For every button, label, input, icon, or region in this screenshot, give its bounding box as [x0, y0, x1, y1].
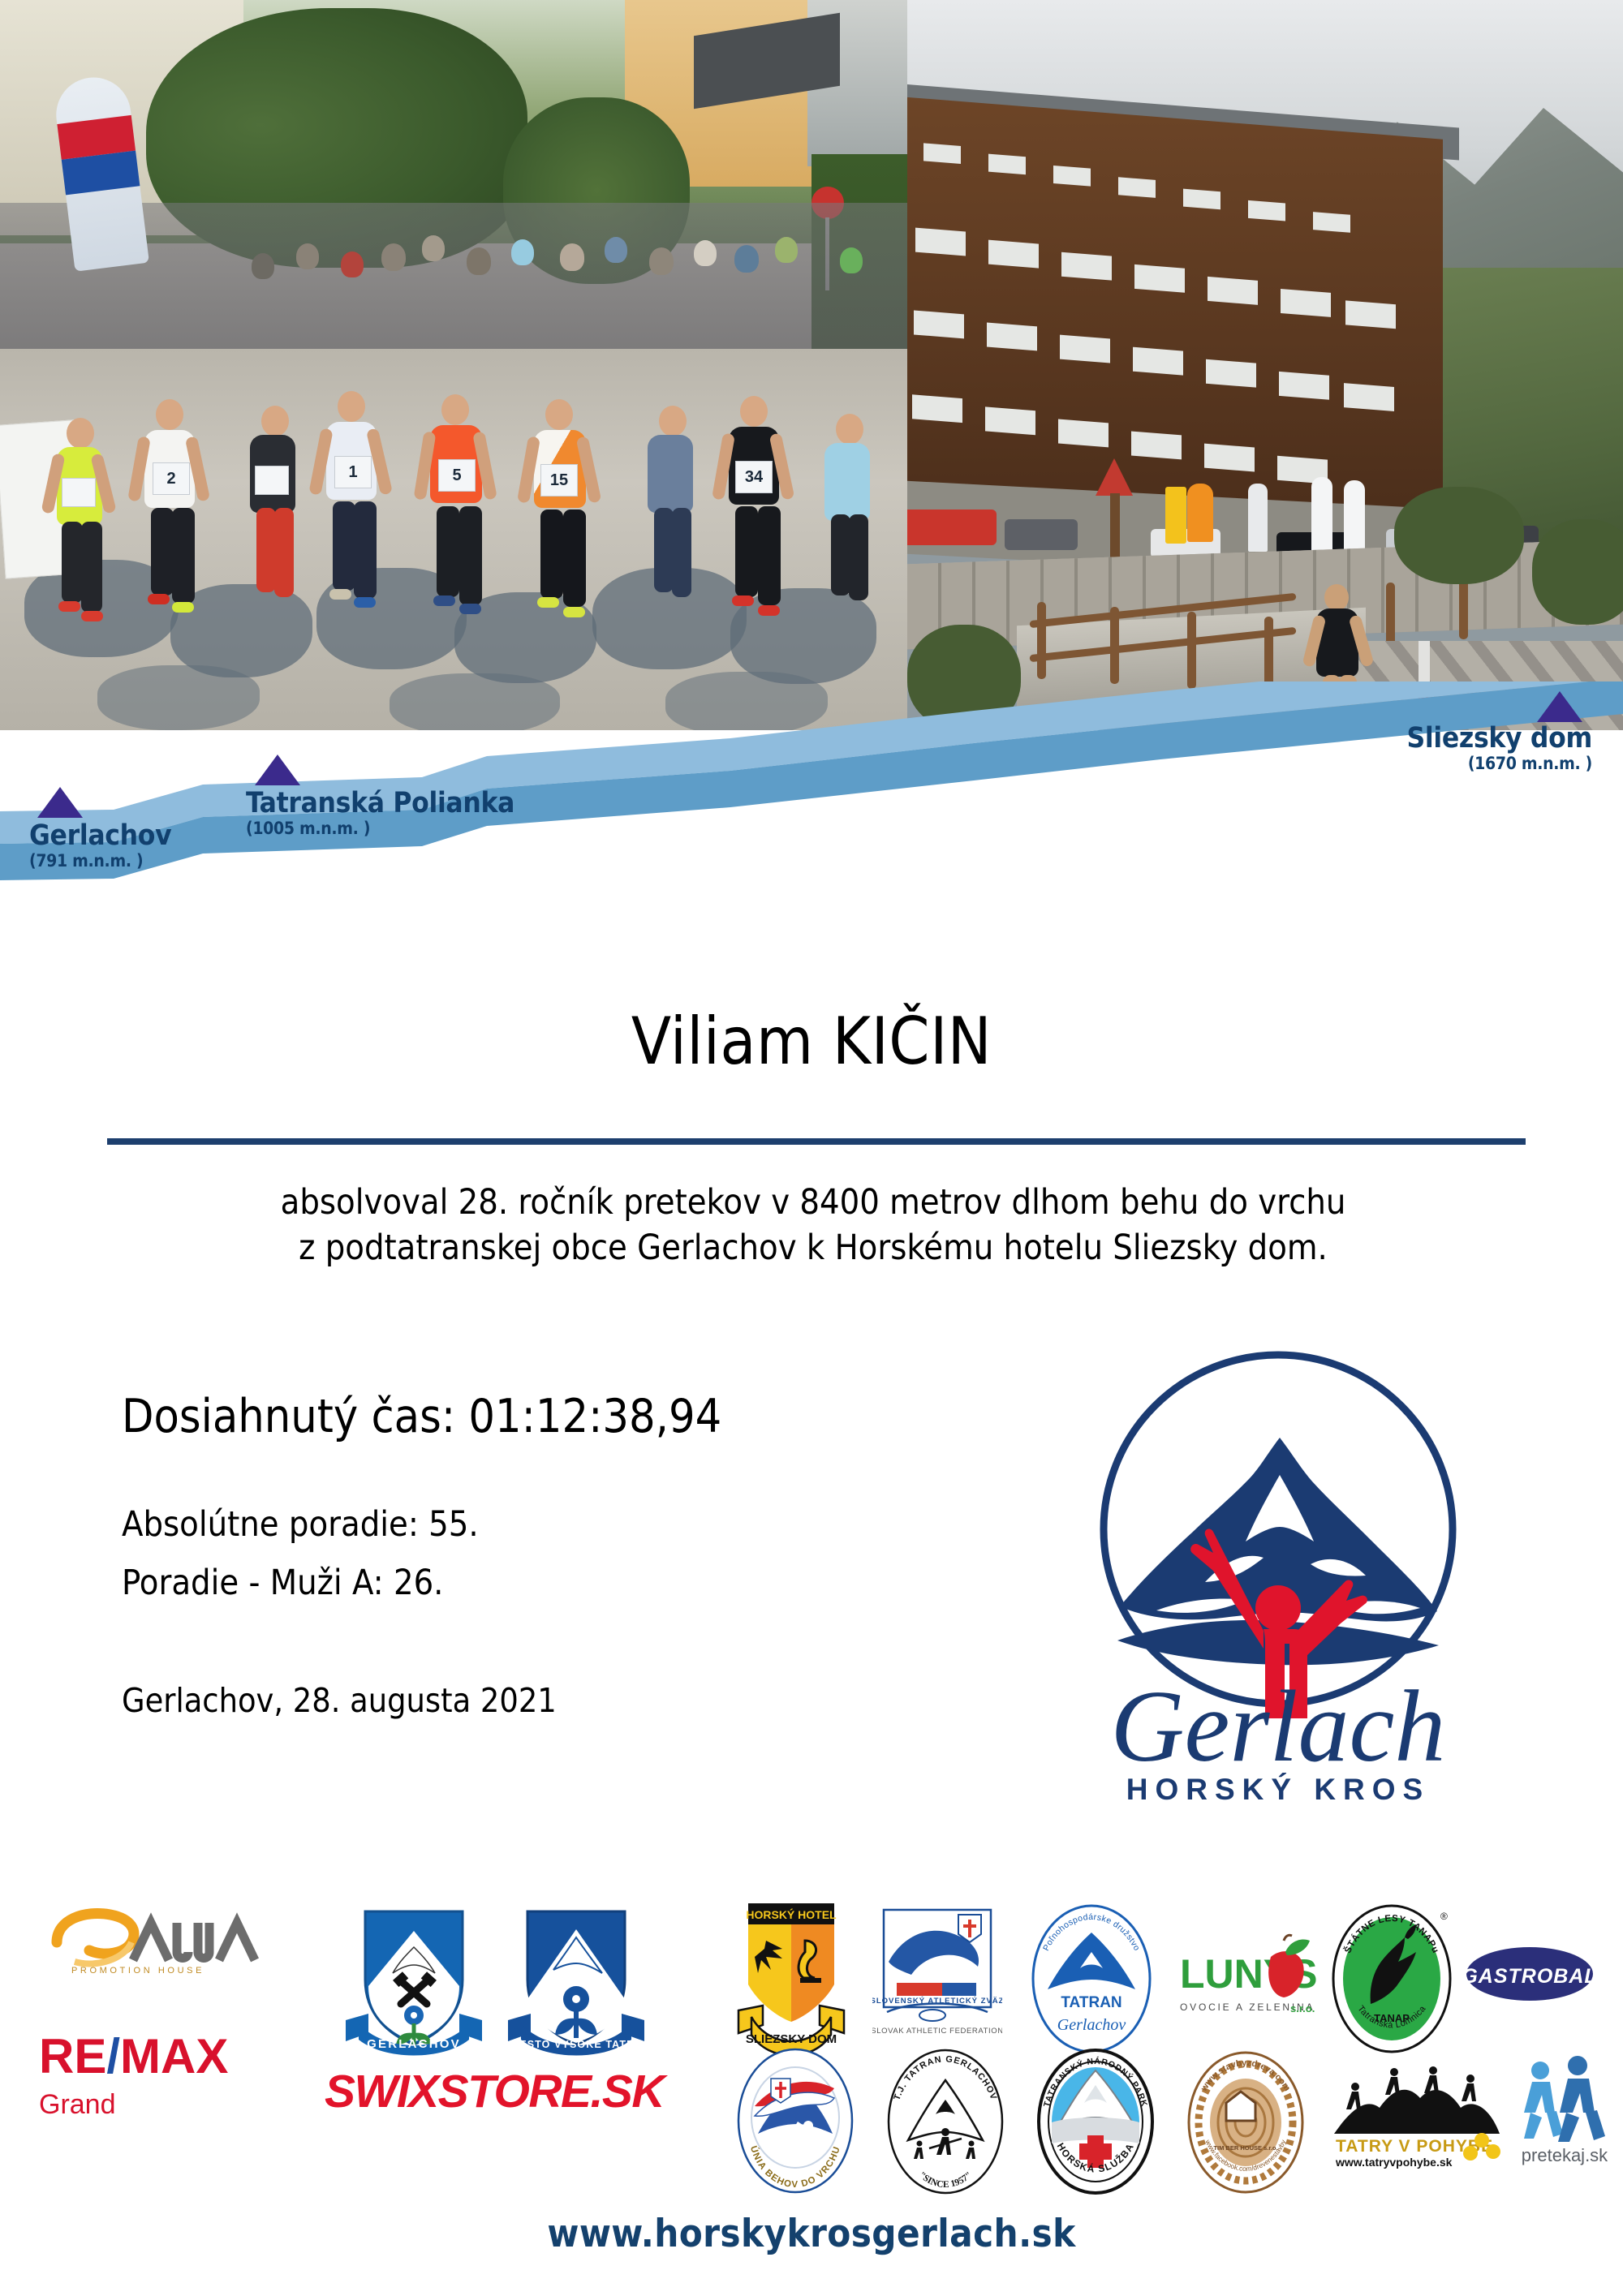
athlete-name: Viliam KIČIN	[0, 1004, 1623, 1079]
band-lower	[0, 681, 1623, 880]
marker-label-tatranska-polianka: Tatranská Polianka (1005 m.n.m. )	[246, 789, 514, 840]
sponsor-stavbyzdreva: TIM BER HOUSE s.r.o. www.stavbyzdreva.co…	[1181, 2046, 1311, 2203]
marker-name: Sliezsky dom	[1365, 724, 1592, 753]
marker-tatranska-polianka	[253, 753, 302, 787]
sponsor-horska-sluzba: TATRANSKÝ NÁRODNÝ PARK HORSKÁ SLUŽBA	[1031, 2044, 1160, 2203]
sponsor-gerlachov-coa: GERLACHOV	[341, 1902, 487, 2064]
sponsor-pretekaj-label: pretekaj.sk	[1522, 2145, 1608, 2165]
race-description-line1: absolvoval 28. ročník pretekov v 8400 me…	[107, 1180, 1519, 1226]
triangle-marker-icon	[1535, 690, 1584, 724]
marker-altitude: (791 m.n.m. )	[29, 850, 171, 871]
triangle-marker-icon	[36, 785, 84, 819]
result-block: Dosiahnutý čas: 01:12:38,94 Absolútne po…	[122, 1391, 974, 1720]
sponsor-sliezsky-dom: HORSKÝ HOTEL SLIEZSKY DOM	[730, 1898, 852, 2069]
elevation-profile: Gerlachov (791 m.n.m. ) Tatranská Polian…	[0, 681, 1623, 949]
sponsor-pd-tatran-gerlachov: TATRAN Gerlachov Poľnohospodárske družst…	[1027, 1902, 1156, 2060]
sponsor-ajla: PROMOTION HOUSE	[47, 1907, 266, 1980]
sponsor-remax: RE/MAX Grand	[39, 2032, 228, 2121]
sponsor-remax-sub: Grand	[39, 2089, 228, 2121]
sponsor-sliezsky-dom-top: HORSKÝ HOTEL	[746, 1907, 837, 1921]
sponsor-stavbyzdreva-mark: TIM BER HOUSE s.r.o.	[1213, 2144, 1277, 2152]
marker-altitude: (1005 m.n.m. )	[246, 818, 514, 839]
photo-band: 2 1	[0, 0, 1623, 730]
sponsor-lunys-extra: s.r.o.	[1290, 2002, 1315, 2014]
rank-absolute: Absolútne poradie: 55.	[122, 1504, 974, 1545]
registered-mark-icon: ®	[1440, 1911, 1448, 1922]
sponsor-sliezsky-dom-label: SLIEZSKY DOM	[746, 2032, 837, 2046]
sponsor-gastrobal-label: GASTROBAL	[1465, 1965, 1595, 1988]
rank-category: Poradie - Muži A: 26.	[122, 1563, 974, 1603]
marker-label-sliezsky-dom: Sliezsky dom (1670 m.n.m. )	[1365, 724, 1592, 775]
marker-label-gerlachov: Gerlachov (791 m.n.m. )	[29, 821, 171, 872]
sponsor-mesto-vysoke-tatry-label: MESTO VYSOKÉ TATRY	[510, 2038, 642, 2050]
sponsor-swixstore-label: SWIXSTORE.SK	[325, 2065, 664, 2118]
logo-wordmark: Gerlach	[1111, 1670, 1446, 1783]
sponsor-remax-max: MAX	[120, 2029, 228, 2083]
sponsor-remax-re: RE	[39, 2029, 106, 2083]
marker-sliezsky-dom	[1535, 690, 1584, 724]
race-description-line2: z podtatranskej obce Gerlachov k Horském…	[107, 1226, 1519, 1271]
title-divider	[107, 1138, 1526, 1145]
sponsor-tatry-v-pohybe: TATRY V POHYBE www.tatryvpohybe.sk	[1331, 2059, 1505, 2173]
photo-race-start: 2 1	[0, 0, 907, 730]
sponsor-gerlachov-coa-label: GERLACHOV	[367, 2037, 461, 2051]
sponsor-ajla-sub: PROMOTION HOUSE	[71, 1966, 204, 1976]
marker-name: Gerlachov	[29, 821, 171, 850]
website-url: www.horskykrosgerlach.sk	[0, 2212, 1623, 2256]
marker-altitude: (1670 m.n.m. )	[1365, 753, 1592, 774]
place-and-date: Gerlachov, 28. augusta 2021	[122, 1681, 974, 1720]
gerlach-logo: Gerlach HORSKÝ KROS	[1043, 1339, 1513, 1825]
marker-gerlachov	[36, 785, 84, 819]
result-time: Dosiahnutý čas: 01:12:38,94	[122, 1391, 974, 1443]
sponsor-saz: SLOVENSKÝ ATLETICKÝ ZVÄZ SLOVAK ATHLETIC…	[872, 1905, 1002, 2055]
sponsor-strip: PROMOTION HOUSE RE/MAX Grand	[0, 1898, 1623, 2191]
sponsor-tatry-v-pohybe-sub: www.tatryvpohybe.sk	[1335, 2156, 1453, 2169]
sponsor-lunys: LUNYS OVOCIE A ZELENINA s.r.o.	[1175, 1933, 1317, 2034]
sponsor-gastrobal: GASTROBAL	[1465, 1946, 1595, 2006]
triangle-marker-icon	[253, 753, 302, 787]
sponsor-tj-tatran-gerlachov: T.J. TATRAN GERLACHOV "SINCE 1957"	[880, 2044, 1010, 2203]
logo-tagline: HORSKÝ KROS	[1126, 1773, 1430, 1806]
sponsor-swixstore: SWIXSTORE.SK	[325, 2065, 664, 2118]
race-description: absolvoval 28. ročník pretekov v 8400 me…	[107, 1180, 1519, 1271]
sponsor-pd-tatran-label: TATRAN	[1061, 1994, 1121, 2011]
marker-name: Tatranská Polianka	[246, 789, 514, 818]
sponsor-pd-tatran-sub: Gerlachov	[1057, 2016, 1126, 2034]
sponsor-unia-behov: ÚNIA BEHOV DO VRCHU	[730, 2046, 860, 2200]
sponsor-saz-label: SLOVENSKÝ ATLETICKÝ ZVÄZ	[872, 1996, 1002, 2006]
sponsor-saz-sub: SLOVAK ATHLETIC FEDERATION	[872, 2027, 1002, 2036]
sponsor-pretekaj: pretekaj.sk	[1511, 2053, 1621, 2170]
sponsor-statne-lesy-tanapu: TANAP ŠTÁTNE LESY TANAPu Tatranská Lomni…	[1327, 1902, 1457, 2060]
elevation-profile-bands	[0, 681, 1623, 949]
photo-sliezsky-dom	[907, 0, 1623, 730]
sponsor-mesto-vysoke-tatry: MESTO VYSOKÉ TATRY	[503, 1902, 649, 2064]
